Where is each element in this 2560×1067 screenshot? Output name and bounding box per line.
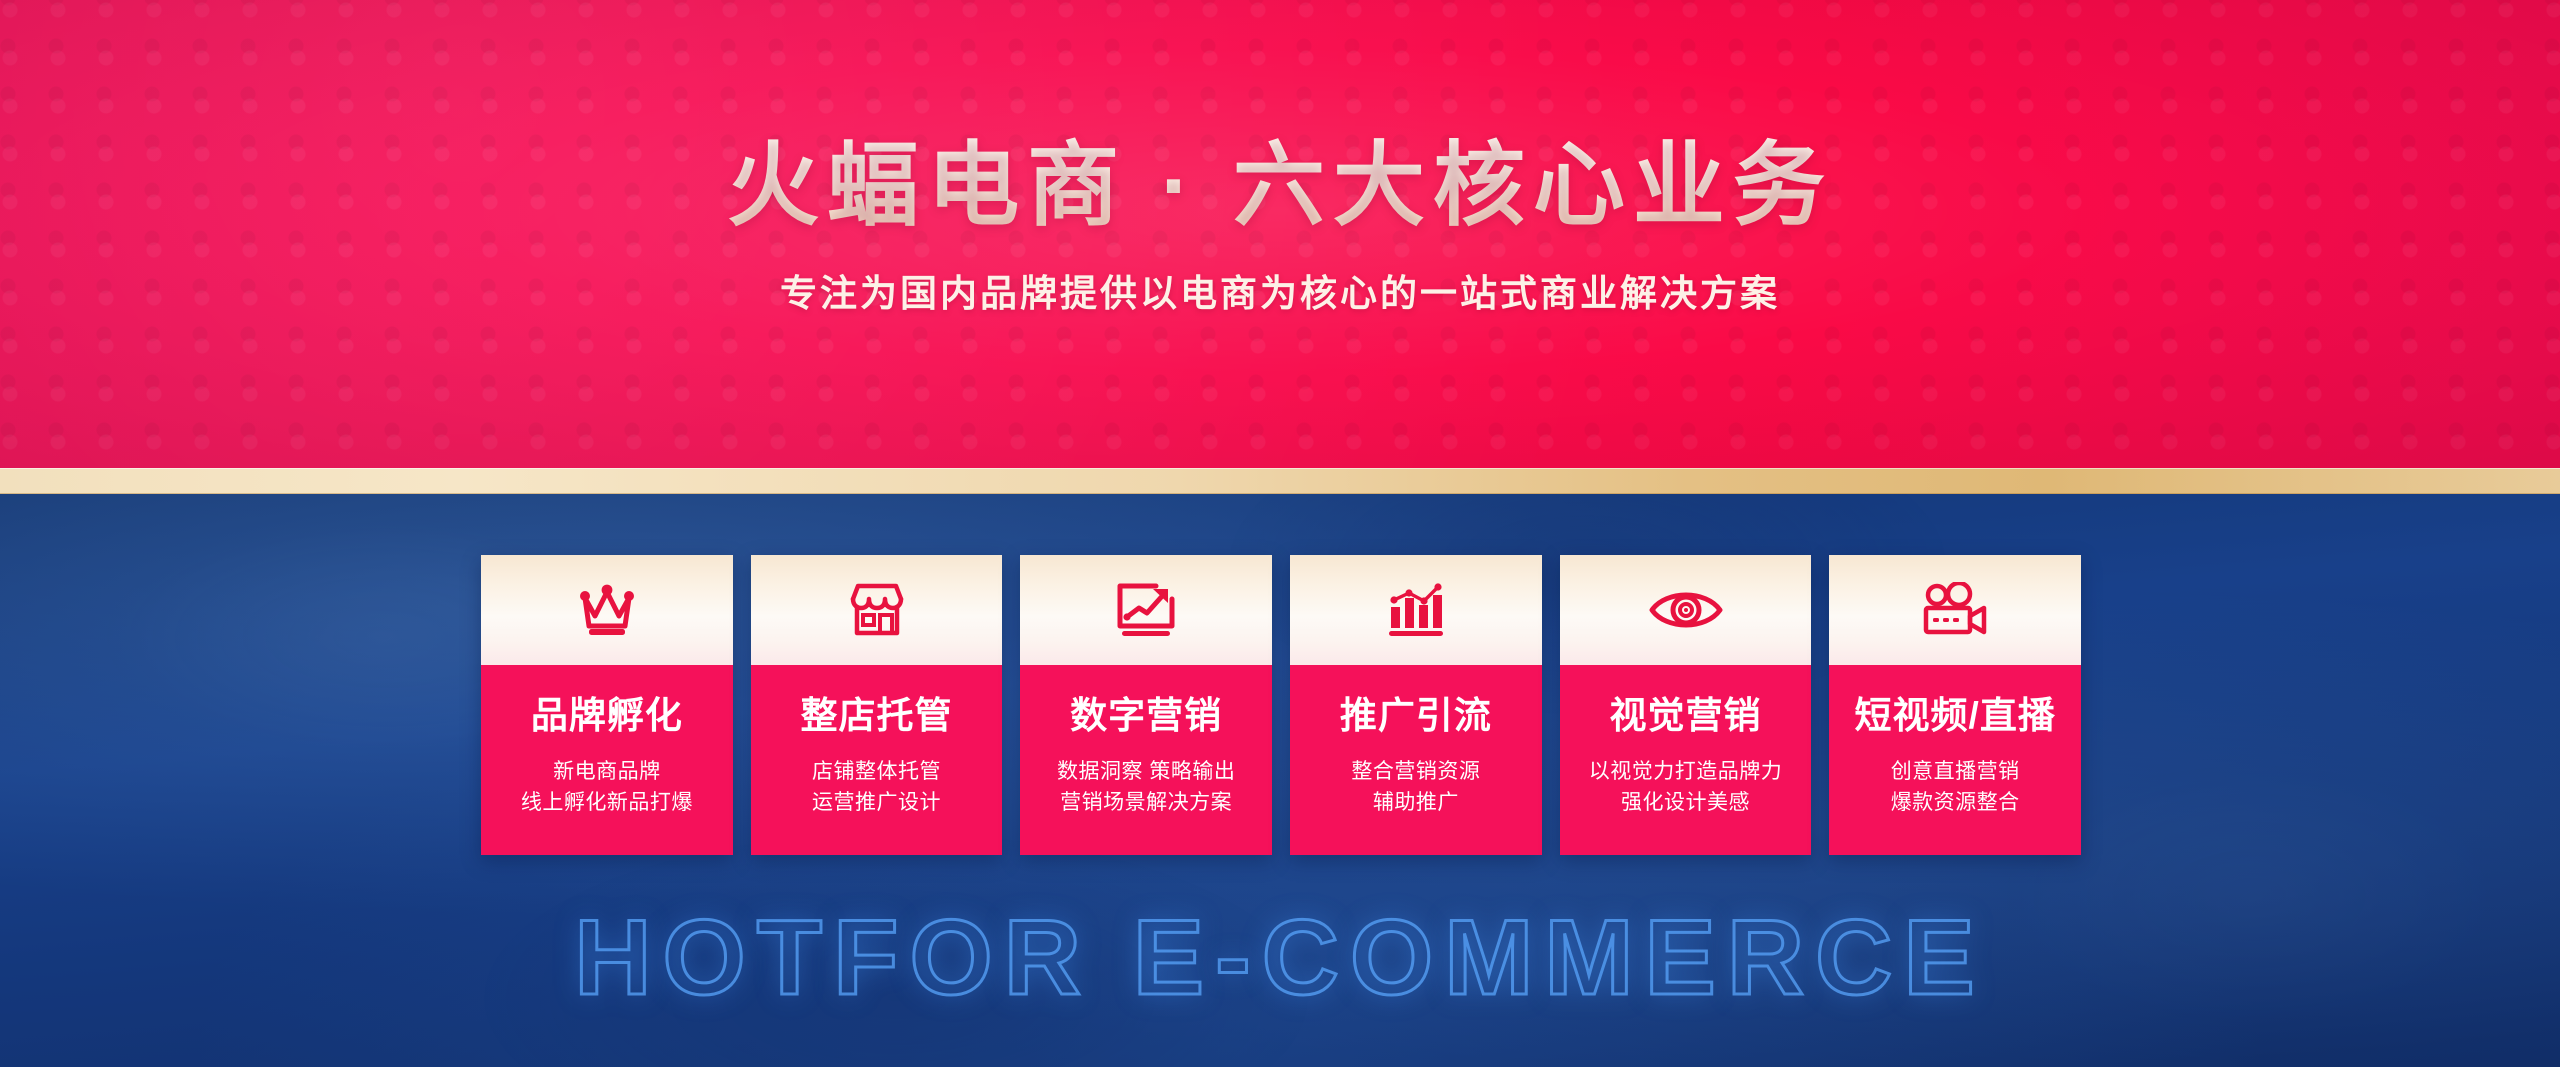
card-desc-line-1: 新电商品牌: [521, 756, 693, 787]
service-card-visual-marketing[interactable]: 视觉营销 以视觉力打造品牌力 强化设计美感: [1560, 555, 1812, 855]
card-desc-line-1: 创意直播营销: [1891, 756, 2020, 787]
service-card-short-video-live[interactable]: 短视频/直播 创意直播营销 爆款资源整合: [1829, 555, 2081, 855]
card-body: 数字营销 数据洞察 策略输出 营销场景解决方案: [1020, 665, 1272, 855]
card-icon-header: [1020, 555, 1272, 665]
card-body: 整店托管 店铺整体托管 运营推广设计: [751, 665, 1003, 855]
card-body: 推广引流 整合营销资源 辅助推广: [1290, 665, 1542, 855]
card-icon-header: [1560, 555, 1812, 665]
page-title: 火蝠电商 · 六大核心业务: [727, 137, 1833, 236]
card-desc-line-1: 数据洞察 策略输出: [1057, 756, 1235, 787]
card-desc-line-1: 整合营销资源: [1351, 756, 1480, 787]
card-desc-line-2: 辅助推广: [1351, 787, 1480, 818]
card-title: 数字营销: [1070, 696, 1222, 737]
page-subtitle: 专注为国内品牌提供以电商为核心的一站式商业解决方案: [780, 263, 1780, 317]
brand-wordmark: HOTFOR E-COMMERCE: [0, 895, 2560, 1019]
card-title: 视觉营销: [1610, 696, 1762, 737]
storefront-icon: [846, 581, 908, 639]
card-desc-line-2: 强化设计美感: [1589, 787, 1783, 818]
card-icon-header: [1829, 555, 2081, 665]
service-card-row: 品牌孵化 新电商品牌 线上孵化新品打爆: [481, 555, 2081, 855]
card-title: 整店托管: [801, 696, 953, 737]
card-desc-line-1: 以视觉力打造品牌力: [1589, 756, 1783, 787]
eye-icon: [1648, 584, 1724, 636]
card-icon-header: [481, 555, 733, 665]
crown-icon: [575, 582, 639, 638]
trending-chart-icon: [1114, 581, 1178, 639]
card-desc-line-2: 运营推广设计: [812, 787, 941, 818]
banner-stage: 火蝠电商 · 六大核心业务 专注为国内品牌提供以电商为核心的一站式商业解决方案 …: [0, 0, 2560, 1067]
card-desc-line-2: 营销场景解决方案: [1057, 787, 1235, 818]
card-icon-header: [1290, 555, 1542, 665]
hero-section: 火蝠电商 · 六大核心业务 专注为国内品牌提供以电商为核心的一站式商业解决方案: [0, 0, 2560, 468]
card-body: 短视频/直播 创意直播营销 爆款资源整合: [1829, 665, 2081, 855]
card-body: 视觉营销 以视觉力打造品牌力 强化设计美感: [1560, 665, 1812, 855]
card-desc-line-1: 店铺整体托管: [812, 756, 941, 787]
bar-chart-icon: [1384, 581, 1448, 639]
card-title: 短视频/直播: [1855, 696, 2056, 737]
card-desc-line-2: 爆款资源整合: [1891, 787, 2020, 818]
card-title: 品牌孵化: [531, 696, 683, 737]
card-body: 品牌孵化 新电商品牌 线上孵化新品打爆: [481, 665, 733, 855]
service-card-traffic-promotion[interactable]: 推广引流 整合营销资源 辅助推广: [1290, 555, 1542, 855]
service-card-brand-incubation[interactable]: 品牌孵化 新电商品牌 线上孵化新品打爆: [481, 555, 733, 855]
service-card-store-management[interactable]: 整店托管 店铺整体托管 运营推广设计: [751, 555, 1003, 855]
card-title: 推广引流: [1340, 696, 1492, 737]
service-card-digital-marketing[interactable]: 数字营销 数据洞察 策略输出 营销场景解决方案: [1020, 555, 1272, 855]
card-icon-header: [751, 555, 1003, 665]
gold-divider: [0, 468, 2560, 494]
card-desc-line-2: 线上孵化新品打爆: [521, 787, 693, 818]
video-camera-icon: [1920, 582, 1990, 638]
